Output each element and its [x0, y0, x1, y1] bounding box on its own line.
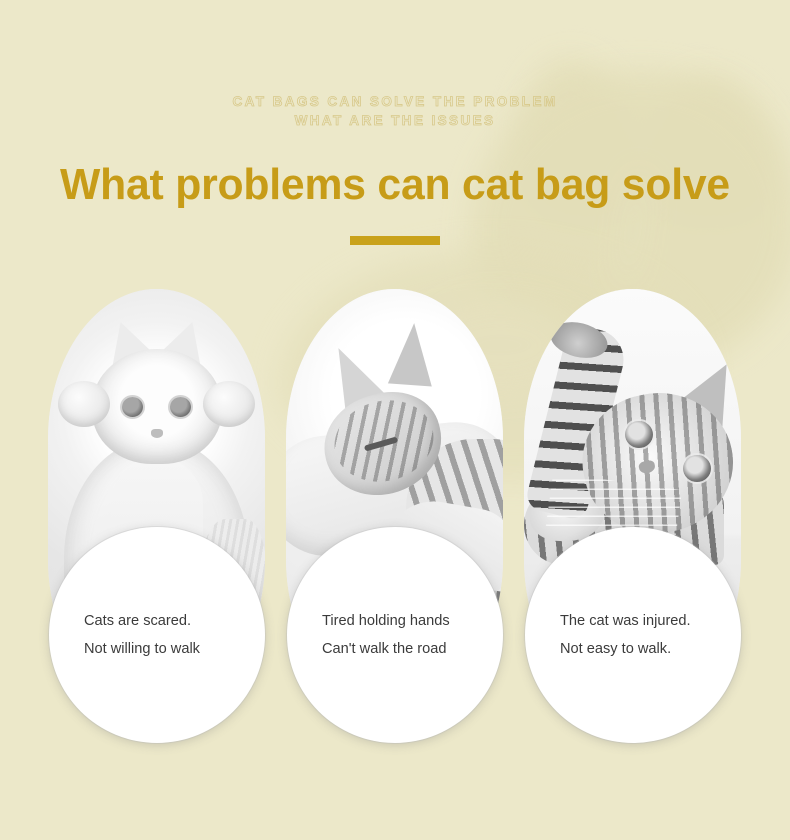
page-header: CAT BAGS CAN SOLVE THE PROBLEM WHAT ARE … — [0, 0, 790, 245]
cat-head-shape — [92, 349, 222, 464]
cat-eye-right — [170, 397, 191, 417]
cat-paw-right — [203, 381, 255, 427]
cat-eye-left — [122, 397, 143, 417]
problem-card[interactable]: Cats are scared. Not willing to walk — [48, 289, 265, 709]
caption-bubble: The cat was injured. Not easy to walk. — [525, 527, 741, 743]
caption-text: Cats are scared. Not willing to walk — [49, 607, 214, 663]
problem-card-list: Cats are scared. Not willing to walk — [0, 289, 790, 709]
eyebrow-outline-text: CAT BAGS CAN SOLVE THE PROBLEM WHAT ARE … — [0, 92, 790, 130]
problem-card[interactable]: The cat was injured. Not easy to walk. — [524, 289, 741, 709]
promo-page: CAT BAGS CAN SOLVE THE PROBLEM WHAT ARE … — [0, 0, 790, 840]
cat-paw-left — [58, 381, 110, 427]
page-title: What problems can cat bag solve — [12, 160, 778, 210]
caption-text: The cat was injured. Not easy to walk. — [525, 607, 705, 663]
caption-bubble: Tired holding hands Can't walk the road — [287, 527, 503, 743]
cat-ear-right-icon — [388, 322, 436, 387]
problem-card[interactable]: Tired holding hands Can't walk the road — [286, 289, 503, 709]
cat-eye-right — [683, 455, 711, 482]
caption-bubble: Cats are scared. Not willing to walk — [49, 527, 265, 743]
cat-nose — [151, 429, 163, 438]
eyebrow-line-2: WHAT ARE THE ISSUES — [0, 111, 790, 130]
eyebrow-line-1: CAT BAGS CAN SOLVE THE PROBLEM — [232, 94, 557, 109]
cat-eye-left — [625, 421, 653, 448]
caption-text: Tired holding hands Can't walk the road — [287, 607, 464, 663]
title-underline-rule — [350, 236, 440, 245]
